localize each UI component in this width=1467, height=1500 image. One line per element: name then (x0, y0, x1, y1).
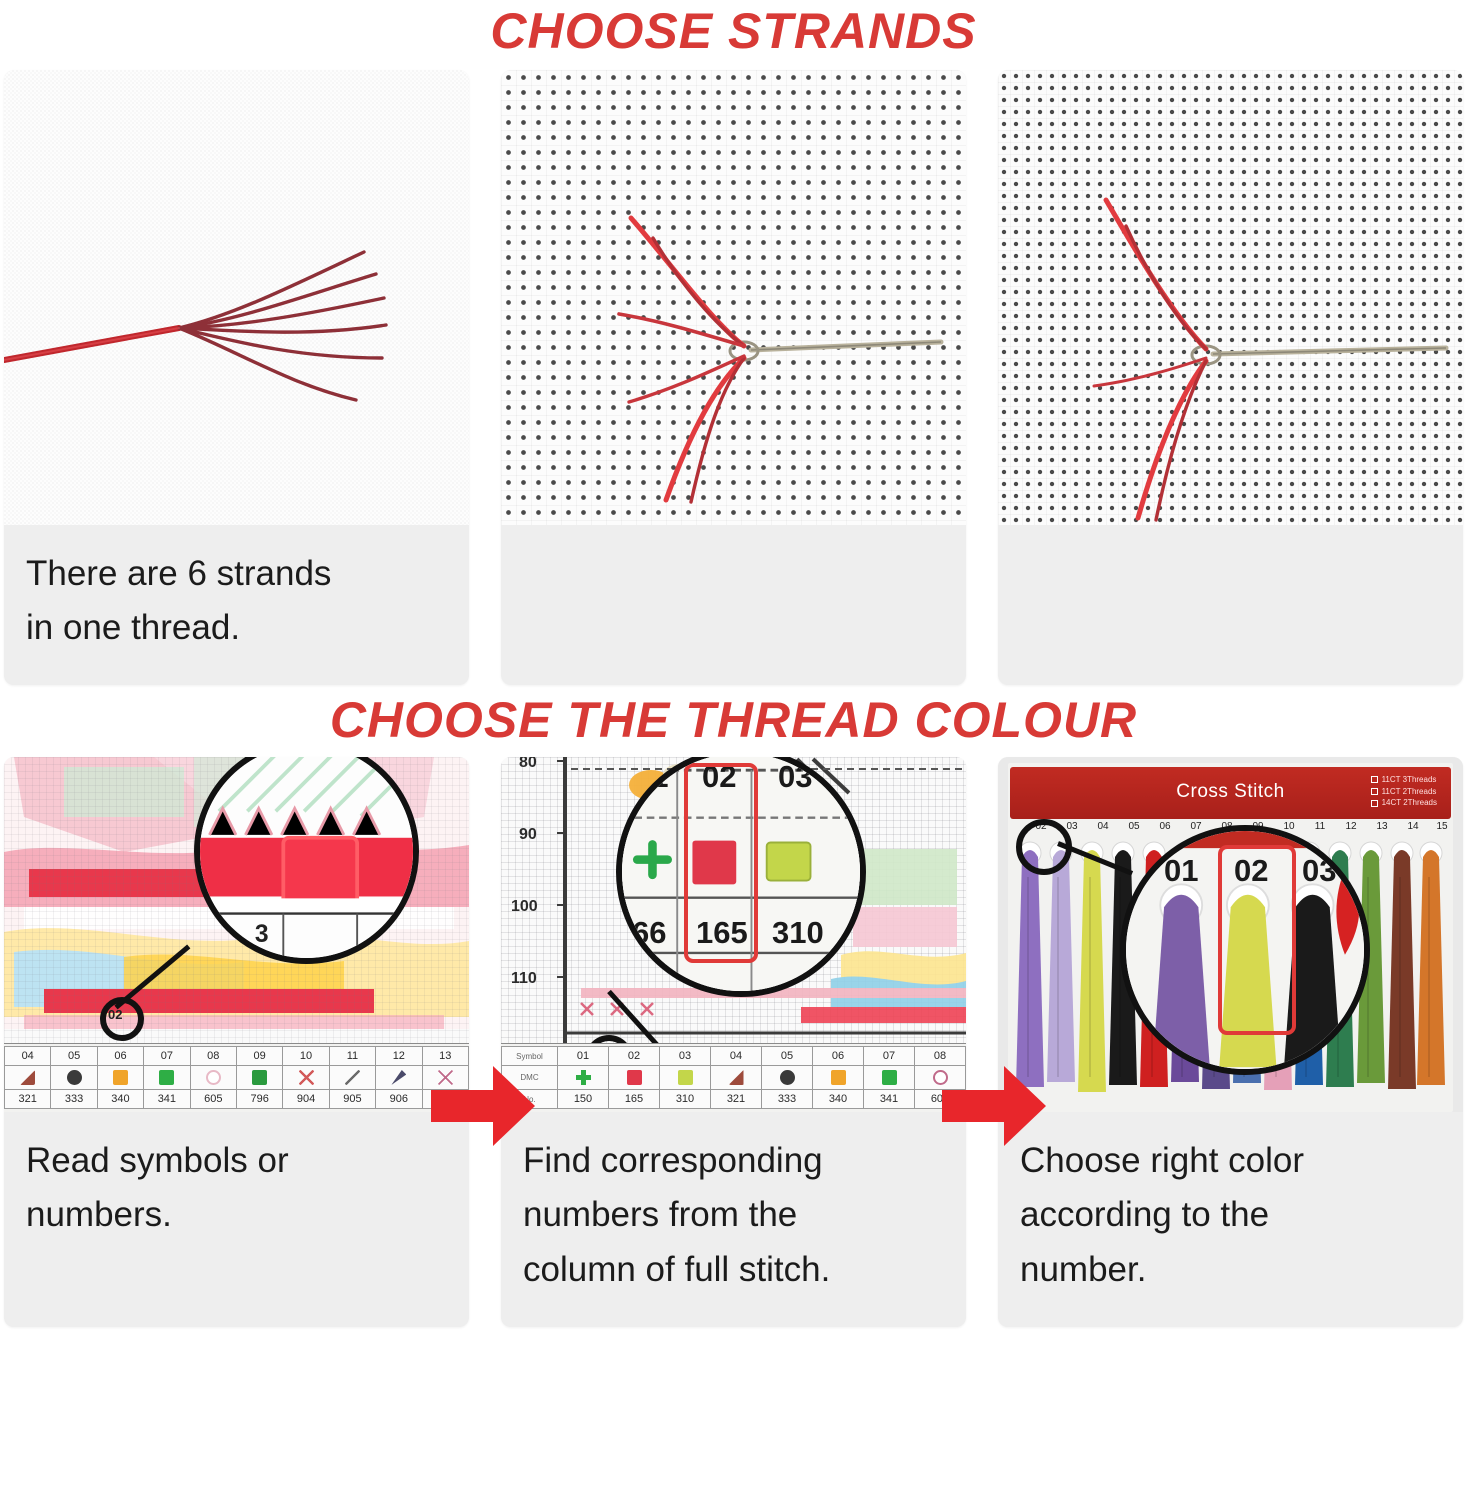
legend-symbol-cell (864, 1066, 915, 1090)
legend-symbol-cell (283, 1066, 329, 1090)
legend-symbol-cell (558, 1066, 609, 1090)
photo-floss-organiser: Cross Stitch 11CT 3Threads 11CT 2Threads… (998, 757, 1463, 1112)
legend-number-cell: 605 (190, 1090, 236, 1109)
legend-header-cell: 08 (190, 1047, 236, 1066)
legend-number-cell: 340 (97, 1090, 143, 1109)
focus-ring-label: 02 (108, 1007, 122, 1022)
thread-colour-card-row: 07 3 02 04 05 06 07 08 09 10 (0, 757, 1467, 1327)
legend-header-cell: 12 (376, 1047, 422, 1066)
caption-line: Read symbols or (26, 1134, 449, 1188)
symbol-square-icon (113, 1070, 128, 1085)
legend-header-cell: 04 (5, 1047, 51, 1066)
legend-symbol-cell (51, 1066, 97, 1090)
legend-symbol-cell (144, 1066, 190, 1090)
symbol-slash-icon (345, 1070, 360, 1085)
symbol-square-icon (159, 1070, 174, 1085)
legend-header-row: 04 05 06 07 08 09 10 11 12 13 (5, 1047, 469, 1066)
legend-symbol-cell (97, 1066, 143, 1090)
section-heading-choose-thread-colour: CHOOSE THE THREAD COLOUR (0, 685, 1467, 757)
legend-strip-symbols: 04 05 06 07 08 09 10 11 12 13 (4, 1043, 469, 1112)
magnifier-thread-slots: 01 02 03 (1120, 825, 1370, 1075)
right-arrow-icon (429, 1060, 537, 1152)
legend-header-cell: 09 (236, 1047, 282, 1066)
legend-header-cell: 03 (660, 1047, 711, 1066)
svg-text:90: 90 (519, 826, 537, 843)
mag-number-label: 66 (632, 915, 666, 951)
legend-number-cell: 333 (762, 1090, 813, 1109)
legend-header-cell: 06 (97, 1047, 143, 1066)
symbol-dot-icon (780, 1070, 795, 1085)
card-choose-colour: Cross Stitch 11CT 3Threads 11CT 2Threads… (998, 757, 1463, 1327)
legend-number-cell: 321 (711, 1090, 762, 1109)
selected-slot-highlight (1218, 845, 1296, 1035)
symbol-triangle-icon (20, 1070, 35, 1085)
symbol-square-icon (252, 1070, 267, 1085)
six-strands-illustration (4, 70, 469, 525)
selected-column-highlight (684, 763, 758, 963)
card-strands-14ct: 14CT use 2 strands to stitch. (998, 70, 1463, 685)
legend-number-cell: 341 (144, 1090, 190, 1109)
mag-column-label: 01 (634, 759, 668, 795)
symbol-triangle-icon (729, 1070, 744, 1085)
needle-and-two-strands-illustration (998, 70, 1463, 525)
legend-number-cell: 310 (660, 1090, 711, 1109)
caption-find-numbers: Find corresponding numbers from the colu… (501, 1112, 966, 1327)
right-arrow-icon (940, 1060, 1048, 1152)
legend-header-cell: 06 (813, 1047, 864, 1066)
symbol-square-icon (882, 1070, 897, 1085)
legend-symbol-cell (609, 1066, 660, 1090)
section-heading-choose-strands: CHOOSE STRANDS (0, 0, 1467, 70)
legend-number-cell: 904 (283, 1090, 329, 1109)
legend-number-cell: 150 (558, 1090, 609, 1109)
legend-number-row: 321 333 340 341 605 796 904 905 906 907 (5, 1090, 469, 1109)
svg-text:3: 3 (255, 921, 269, 948)
card-strands-11ct: 11CT use 3 strands to stitch. (501, 70, 966, 685)
magnifier-colour-key: 01 02 03 66 165 310 (616, 757, 866, 997)
magnifier-focus-ring (1016, 819, 1072, 875)
caption-choose-colour: Choose right color according to the numb… (998, 1112, 1463, 1327)
symbol-leaf-icon (391, 1070, 406, 1085)
legend-symbol-row (5, 1066, 469, 1090)
svg-text:80: 80 (519, 757, 537, 771)
symbol-square-icon (831, 1070, 846, 1085)
symbol-dot-icon (67, 1070, 82, 1085)
card-strands-6: There are 6 strands in one thread. (4, 70, 469, 685)
legend-symbol-cell (5, 1066, 51, 1090)
legend-number-cell: 333 (51, 1090, 97, 1109)
legend-symbol-row: DMC (502, 1066, 966, 1090)
legend-header-cell: 07 (144, 1047, 190, 1066)
caption-line: column of full stitch. (523, 1243, 946, 1297)
caption-line: Choose right color (1020, 1134, 1443, 1188)
legend-number-cell: 321 (5, 1090, 51, 1109)
legend-symbol-cell (190, 1066, 236, 1090)
caption-read-symbols: Read symbols or numbers. (4, 1112, 469, 1327)
legend-number-cell: 906 (376, 1090, 422, 1109)
photo-printed-canvas: 07 3 02 04 05 06 07 08 09 10 (4, 757, 469, 1112)
caption-line: Find corresponding (523, 1134, 946, 1188)
legend-header-cell: 05 (51, 1047, 97, 1066)
caption-line: in one thread. (26, 601, 449, 655)
mag-slot-label: 01 (1164, 853, 1198, 889)
svg-text:110: 110 (511, 970, 537, 987)
legend-header-row: Symbol 01 02 03 04 05 06 07 08 (502, 1047, 966, 1066)
photo-chart-with-key: 80 90 100 110 (501, 757, 966, 1112)
symbol-circle-outline-icon (206, 1070, 221, 1085)
symbol-cross-icon (299, 1070, 314, 1085)
caption-strands-6: There are 6 strands in one thread. (4, 525, 469, 685)
legend-header-cell: 04 (711, 1047, 762, 1066)
svg-text:100: 100 (511, 898, 538, 915)
legend-header-cell: 05 (762, 1047, 813, 1066)
legend-header-cell: 01 (558, 1047, 609, 1066)
photo-11ct-aida (501, 70, 966, 525)
mag-slot-label: 03 (1302, 853, 1336, 889)
needle-and-three-strands-illustration (501, 70, 966, 525)
card-read-symbols: 07 3 02 04 05 06 07 08 09 10 (4, 757, 469, 1327)
legend-header-cell: 02 (609, 1047, 660, 1066)
legend-header-cell: 07 (864, 1047, 915, 1066)
legend-number-cell: 341 (864, 1090, 915, 1109)
photo-six-strands (4, 70, 469, 525)
legend-table: 04 05 06 07 08 09 10 11 12 13 (4, 1046, 469, 1109)
legend-symbol-cell (329, 1066, 375, 1090)
legend-header-cell: 11 (329, 1047, 375, 1066)
caption-line: numbers from the (523, 1188, 946, 1242)
legend-number-cell: 796 (236, 1090, 282, 1109)
legend-strip-full-stitch: Symbol 01 02 03 04 05 06 07 08 DMC (501, 1043, 966, 1112)
card-find-numbers: 80 90 100 110 (501, 757, 966, 1327)
legend-symbol-cell (711, 1066, 762, 1090)
symbol-square-icon (627, 1070, 642, 1085)
legend-header-cell: 10 (283, 1047, 329, 1066)
caption-line: according to the (1020, 1188, 1443, 1242)
legend-number-cell: 340 (813, 1090, 864, 1109)
caption-line: number. (1020, 1243, 1443, 1297)
symbol-square-icon (678, 1070, 693, 1085)
strands-card-row: There are 6 strands in one thread. 11CT … (0, 70, 1467, 685)
legend-symbol-cell (813, 1066, 864, 1090)
mag-column-label: 03 (778, 759, 812, 795)
legend-symbol-cell (660, 1066, 711, 1090)
symbol-cross-icon (576, 1070, 591, 1085)
legend-number-cell: 905 (329, 1090, 375, 1109)
caption-line: numbers. (26, 1188, 449, 1242)
legend-symbol-cell (762, 1066, 813, 1090)
legend-table: Symbol 01 02 03 04 05 06 07 08 DMC (501, 1046, 966, 1109)
magnified-stitch-detail: 07 3 (200, 757, 413, 958)
caption-line: There are 6 strands (26, 547, 449, 601)
legend-number-cell: 165 (609, 1090, 660, 1109)
mag-number-label: 310 (772, 915, 824, 951)
legend-number-row: No. 150 165 310 321 333 340 341 605 (502, 1090, 966, 1109)
legend-symbol-cell (236, 1066, 282, 1090)
legend-symbol-cell (376, 1066, 422, 1090)
photo-14ct-aida (998, 70, 1463, 525)
